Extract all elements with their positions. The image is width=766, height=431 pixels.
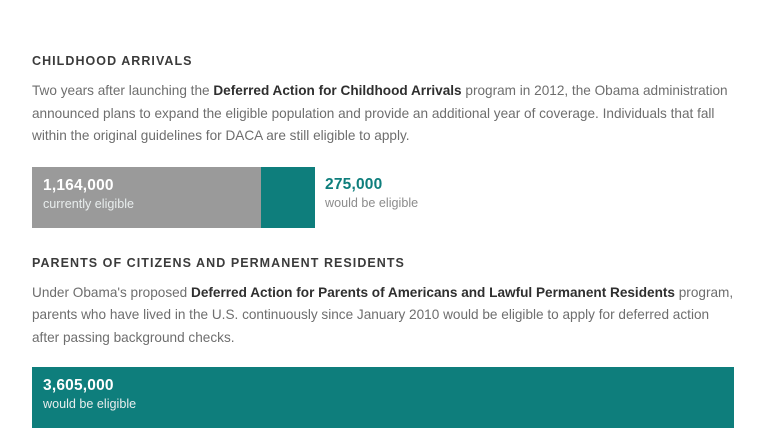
bar-sublabel-would-be-eligible: would be eligible — [325, 194, 418, 212]
bar-segment-currently-eligible: 1,164,000 currently eligible — [32, 167, 261, 228]
bar-value-would-be-eligible: 275,000 — [325, 175, 418, 194]
section-heading-parents-of-citizens: PARENTS OF CITIZENS AND PERMANENT RESIDE… — [32, 228, 734, 271]
bar-sublabel-parents-would-be-eligible: would be eligible — [43, 395, 136, 413]
section-heading-childhood-arrivals: CHILDHOOD ARRIVALS — [32, 0, 734, 69]
body-lead-text: Two years after launching the — [32, 83, 213, 98]
bar-value-parents-would-be-eligible: 3,605,000 — [43, 376, 136, 395]
section-childhood-arrivals: CHILDHOOD ARRIVALS Two years after launc… — [21, 0, 745, 228]
section-body-childhood-arrivals: Two years after launching the Deferred A… — [32, 69, 734, 148]
infographic-page: CHILDHOOD ARRIVALS Two years after launc… — [0, 0, 766, 431]
bar-label-parents-would-be-eligible: 3,605,000 would be eligible — [43, 376, 136, 413]
bar-label-would-be-eligible: 275,000 would be eligible — [315, 167, 418, 228]
body-bold-program-name: Deferred Action for Childhood Arrivals — [213, 83, 461, 98]
bar-value-currently-eligible: 1,164,000 — [43, 176, 134, 195]
bar-label-currently-eligible: 1,164,000 currently eligible — [43, 176, 134, 213]
section-parents-of-citizens: PARENTS OF CITIZENS AND PERMANENT RESIDE… — [21, 228, 745, 429]
bar-sublabel-currently-eligible: currently eligible — [43, 195, 134, 213]
bar-segment-would-be-eligible — [261, 167, 315, 228]
body-lead-text: Under Obama's proposed — [32, 285, 191, 300]
bar-chart-parents-of-citizens: 3,605,000 would be eligible — [32, 367, 734, 428]
bar-segment-parents-would-be-eligible: 3,605,000 would be eligible — [32, 367, 734, 428]
bar-chart-childhood-arrivals: 1,164,000 currently eligible 275,000 wou… — [32, 167, 734, 228]
body-bold-program-name: Deferred Action for Parents of Americans… — [191, 285, 675, 300]
section-body-parents-of-citizens: Under Obama's proposed Deferred Action f… — [32, 271, 734, 350]
